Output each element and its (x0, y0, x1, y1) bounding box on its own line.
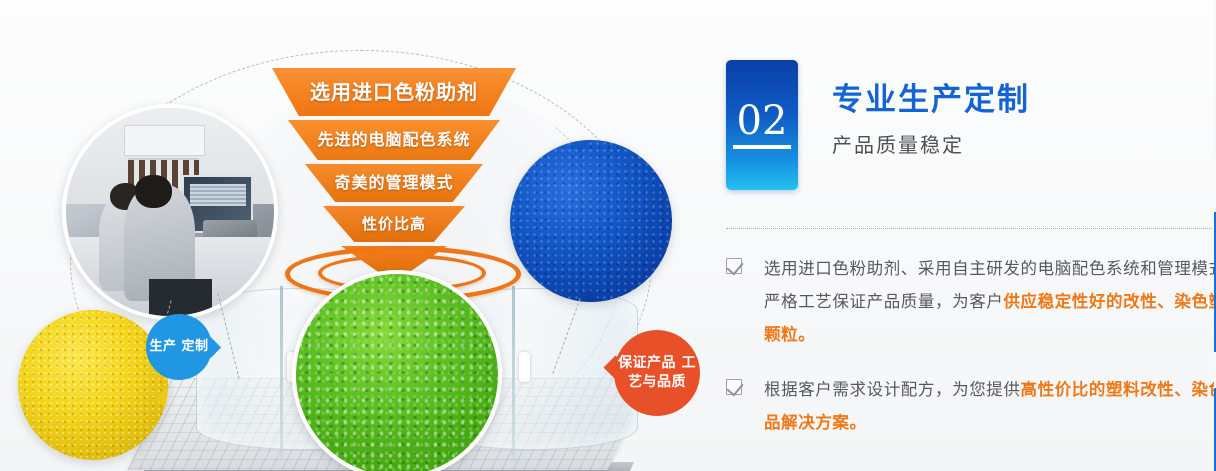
photo-wall-chart (124, 125, 205, 156)
bullet-text-highlight: 高性价比的塑料改性、染色产 (1021, 380, 1216, 399)
callout-line-1: 生产 (149, 339, 176, 354)
checkbox-checked-icon (726, 379, 742, 395)
bullet-text-highlight: 供应稳定性好的改性、染色塑料 (1003, 292, 1216, 311)
bullet-line: 品解决方案。 (764, 406, 1216, 439)
photo-person-front-head (135, 175, 172, 208)
bullet-text-plain: 选用进口色粉助剂、采用自主研发的电脑配色系统和管理模式， (764, 259, 1216, 278)
process-funnel: 选用进口色粉助剂 先进的电脑配色系统 奇美的管理模式 性价比高 (272, 68, 516, 248)
feature-bullet-1: 选用进口色粉助剂、采用自主研发的电脑配色系统和管理模式， 严格工艺保证产品质量，… (726, 252, 1216, 351)
callout-production-custom: 生产 定制 (146, 314, 212, 380)
product-illustration-panel: 选用进口色粉助剂 先进的电脑配色系统 奇美的管理模式 性价比高 (0, 0, 720, 471)
funnel-stage-4: 性价比高 (323, 206, 465, 242)
callout-line-2: 定制 (182, 339, 209, 354)
funnel-stage-1: 选用进口色粉助剂 (272, 68, 516, 116)
glass-rib-left (280, 286, 283, 462)
section-number: 02 (733, 101, 792, 149)
bullet-text-plain: 严格工艺保证产品质量，为客户 (764, 292, 1003, 311)
section-number-badge: 02 (726, 60, 798, 190)
callout-line-1: 保证产品 (618, 355, 676, 371)
section-header: 02 专业生产定制 产品质量稳定 (726, 60, 1030, 190)
promo-section: 选用进口色粉助剂 先进的电脑配色系统 奇美的管理模式 性价比高 (0, 0, 1216, 471)
yellow-pigment-powder (18, 310, 168, 460)
bullet-text-plain: 根据客户需求设计配方，为您提供 (764, 380, 1021, 399)
checkbox-checked-icon (726, 258, 742, 274)
section-title: 专业生产定制 (832, 82, 1030, 119)
blue-pigment-powder (510, 140, 672, 302)
photo-content (66, 108, 274, 316)
callout-quality-guarantee: 保证产品 工艺与品质 (614, 330, 700, 416)
bullet-line: 根据客户需求设计配方，为您提供高性价比的塑料改性、染色产 (764, 373, 1216, 406)
yellow-powder-texture (18, 310, 168, 460)
blue-powder-texture (510, 140, 672, 302)
glass-handle-right (519, 352, 530, 382)
bullet-text-highlight: 颗粒。 (764, 325, 815, 344)
bullet-line: 颗粒。 (764, 318, 1216, 351)
feature-bullet-2-text: 根据客户需求设计配方，为您提供高性价比的塑料改性、染色产 品解决方案。 (764, 373, 1216, 439)
granule-texture (296, 274, 498, 471)
dotted-divider (726, 228, 1212, 229)
callout-production-custom-text: 生产 定制 (149, 338, 208, 356)
glass-rib-right (512, 286, 515, 462)
funnel-stage-3: 奇美的管理模式 (305, 164, 483, 202)
feature-bullet-2: 根据客户需求设计配方，为您提供高性价比的塑料改性、染色产 品解决方案。 (726, 373, 1216, 439)
funnel-stage-2: 先进的电脑配色系统 (288, 120, 500, 160)
callout-quality-guarantee-text: 保证产品 工艺与品质 (614, 354, 700, 392)
section-subtitle: 产品质量稳定 (832, 129, 1030, 158)
section-heading-group: 专业生产定制 产品质量稳定 (832, 60, 1030, 158)
section-content-panel: 02 专业生产定制 产品质量稳定 选用进口色粉助剂、采用自主研发的电脑配色系统和… (724, 0, 1216, 471)
green-plastic-granules (292, 270, 502, 471)
bullet-line: 选用进口色粉助剂、采用自主研发的电脑配色系统和管理模式， (764, 252, 1216, 285)
feature-bullet-1-text: 选用进口色粉助剂、采用自主研发的电脑配色系统和管理模式， 严格工艺保证产品质量，… (764, 252, 1216, 351)
bullet-text-highlight: 品解决方案。 (764, 413, 867, 432)
feature-bullet-list: 选用进口色粉助剂、采用自主研发的电脑配色系统和管理模式， 严格工艺保证产品质量，… (726, 252, 1216, 461)
lab-technicians-photo (62, 104, 278, 320)
bullet-line: 严格工艺保证产品质量，为客户供应稳定性好的改性、染色塑料 (764, 285, 1216, 318)
